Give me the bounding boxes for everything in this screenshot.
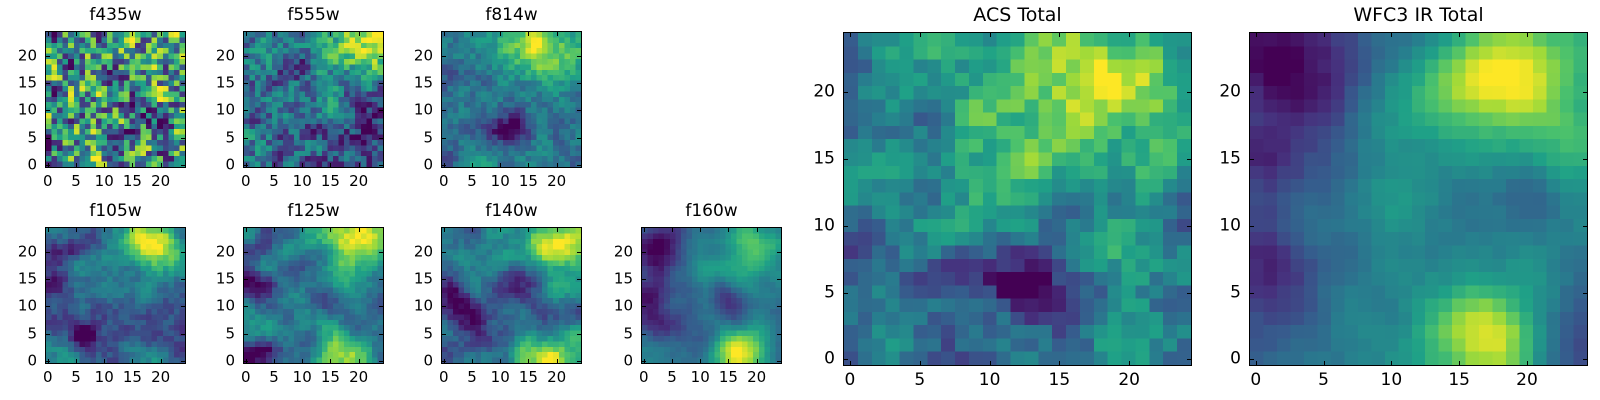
x-tick-mark-top	[472, 32, 473, 36]
y-tick-mark	[244, 165, 248, 166]
panel-f140w: f140w0510152005101520	[441, 227, 582, 364]
y-tick-mark	[1250, 293, 1254, 294]
x-tick-mark	[500, 359, 501, 363]
x-tick-label: 20	[349, 370, 368, 385]
x-tick-label: 0	[439, 370, 449, 385]
y-tick-label: 10	[0, 299, 37, 314]
x-tick-label: 20	[349, 174, 368, 189]
panel-title-f140w: f140w	[441, 203, 582, 220]
y-tick-mark	[642, 361, 646, 362]
x-tick-mark-top	[500, 228, 501, 232]
heatmap-image-wfc3-ir-total	[1250, 33, 1587, 365]
y-tick-label: 15	[0, 272, 37, 287]
x-tick-mark	[920, 361, 921, 365]
panel-f435w: f435w0510152005101520	[45, 31, 186, 168]
y-tick-mark	[1583, 159, 1587, 160]
panel-title-wfc3-ir-total: WFC3 IR Total	[1249, 6, 1588, 25]
y-tick-label: 15	[579, 272, 633, 287]
panel-title-acs-total: ACS Total	[843, 6, 1192, 25]
y-tick-mark	[844, 293, 848, 294]
x-tick-mark-top	[990, 33, 991, 37]
x-tick-label: 10	[491, 370, 510, 385]
y-tick-label: 5	[781, 284, 835, 301]
heatmap-axes-acs-total	[843, 32, 1192, 366]
y-tick-mark	[244, 361, 248, 362]
y-tick-mark	[777, 252, 781, 253]
x-tick-label: 5	[1318, 372, 1329, 389]
x-tick-mark-top	[757, 228, 758, 232]
x-tick-label: 0	[1250, 372, 1261, 389]
x-tick-mark	[528, 359, 529, 363]
y-tick-label: 15	[379, 76, 433, 91]
y-tick-mark	[442, 361, 446, 362]
y-tick-label: 0	[181, 158, 235, 173]
x-tick-label: 5	[269, 174, 279, 189]
y-tick-mark	[244, 56, 248, 57]
x-tick-mark	[274, 359, 275, 363]
y-tick-mark	[46, 83, 50, 84]
x-tick-mark	[1129, 361, 1130, 365]
y-tick-mark	[642, 334, 646, 335]
x-tick-mark-top	[850, 33, 851, 37]
y-tick-label: 10	[379, 299, 433, 314]
x-tick-mark-top	[644, 228, 645, 232]
y-tick-label: 0	[0, 354, 37, 369]
x-tick-mark-top	[246, 228, 247, 232]
x-tick-label: 10	[95, 370, 114, 385]
x-tick-mark	[1527, 361, 1528, 365]
heatmap-axes-f435w	[45, 31, 186, 168]
x-tick-label: 0	[241, 370, 251, 385]
y-tick-mark	[642, 306, 646, 307]
x-tick-mark-top	[557, 228, 558, 232]
heatmap-image-acs-total	[844, 33, 1191, 365]
x-tick-label: 0	[845, 372, 856, 389]
y-tick-mark	[844, 159, 848, 160]
y-tick-label: 5	[579, 326, 633, 341]
x-tick-mark-top	[274, 228, 275, 232]
y-tick-mark	[642, 252, 646, 253]
panel-f105w: f105w0510152005101520	[45, 227, 186, 364]
panel-f125w: f125w0510152005101520	[243, 227, 384, 364]
x-tick-mark-top	[76, 32, 77, 36]
x-tick-mark-top	[528, 228, 529, 232]
y-tick-label: 10	[379, 103, 433, 118]
y-tick-mark	[46, 56, 50, 57]
y-tick-mark	[1250, 92, 1254, 93]
x-tick-mark-top	[528, 32, 529, 36]
x-tick-mark	[1059, 361, 1060, 365]
x-tick-mark	[274, 163, 275, 167]
y-tick-mark	[244, 83, 248, 84]
x-tick-mark-top	[1324, 33, 1325, 37]
y-tick-mark	[1250, 226, 1254, 227]
panel-title-f125w: f125w	[243, 203, 384, 220]
x-tick-label: 15	[1448, 372, 1470, 389]
y-tick-label: 0	[0, 158, 37, 173]
x-tick-label: 20	[151, 370, 170, 385]
y-tick-label: 20	[0, 48, 37, 63]
y-tick-label: 10	[0, 103, 37, 118]
x-tick-mark	[161, 359, 162, 363]
x-tick-mark	[302, 163, 303, 167]
x-tick-mark-top	[672, 228, 673, 232]
x-tick-label: 10	[979, 372, 1001, 389]
panel-wfc3-ir-total: WFC3 IR Total0510152005101520	[1249, 32, 1588, 366]
x-tick-mark-top	[48, 32, 49, 36]
y-tick-label: 5	[0, 326, 37, 341]
y-tick-label: 0	[781, 351, 835, 368]
y-tick-label: 15	[181, 272, 235, 287]
x-tick-mark-top	[920, 33, 921, 37]
y-tick-mark	[1583, 226, 1587, 227]
y-tick-mark	[46, 110, 50, 111]
y-tick-label: 0	[579, 354, 633, 369]
y-tick-mark	[46, 279, 50, 280]
panel-f160w: f160w0510152005101520	[641, 227, 782, 364]
x-tick-mark-top	[274, 32, 275, 36]
x-tick-mark-top	[728, 228, 729, 232]
x-tick-mark	[330, 163, 331, 167]
y-tick-label: 5	[181, 326, 235, 341]
y-tick-mark	[577, 138, 581, 139]
y-tick-label: 5	[379, 326, 433, 341]
figure-canvas: f435w0510152005101520f555w05101520051015…	[0, 0, 1600, 400]
x-tick-mark	[359, 163, 360, 167]
x-tick-mark-top	[330, 32, 331, 36]
y-tick-mark	[1583, 359, 1587, 360]
panel-title-f555w: f555w	[243, 7, 384, 24]
heatmap-image-f555w	[244, 32, 383, 167]
y-tick-label: 15	[181, 76, 235, 91]
y-tick-label: 15	[0, 76, 37, 91]
y-tick-mark	[442, 306, 446, 307]
x-tick-label: 20	[1516, 372, 1538, 389]
y-tick-label: 0	[379, 354, 433, 369]
y-tick-label: 20	[1187, 84, 1241, 101]
y-tick-mark	[442, 334, 446, 335]
y-tick-label: 0	[181, 354, 235, 369]
x-tick-mark-top	[1391, 33, 1392, 37]
y-tick-label: 15	[1187, 150, 1241, 167]
y-tick-label: 5	[379, 130, 433, 145]
x-tick-mark-top	[1459, 33, 1460, 37]
panel-title-f435w: f435w	[45, 7, 186, 24]
y-tick-mark	[244, 306, 248, 307]
y-tick-mark	[844, 226, 848, 227]
y-tick-mark	[46, 138, 50, 139]
x-tick-mark	[672, 359, 673, 363]
y-tick-label: 20	[379, 48, 433, 63]
x-tick-mark-top	[330, 228, 331, 232]
y-tick-label: 5	[181, 130, 235, 145]
y-tick-label: 20	[181, 48, 235, 63]
x-tick-mark	[302, 359, 303, 363]
x-tick-mark	[472, 359, 473, 363]
y-tick-mark	[1250, 359, 1254, 360]
x-tick-label: 10	[1381, 372, 1403, 389]
x-tick-mark-top	[302, 228, 303, 232]
y-tick-label: 5	[0, 130, 37, 145]
x-tick-mark-top	[359, 228, 360, 232]
x-tick-mark	[132, 359, 133, 363]
x-tick-mark-top	[104, 32, 105, 36]
panel-title-f105w: f105w	[45, 203, 186, 220]
x-tick-label: 20	[1118, 372, 1140, 389]
x-tick-label: 15	[1049, 372, 1071, 389]
heatmap-axes-f814w	[441, 31, 582, 168]
x-tick-mark	[557, 163, 558, 167]
x-tick-mark	[472, 163, 473, 167]
x-tick-mark	[850, 361, 851, 365]
heatmap-image-f814w	[442, 32, 581, 167]
y-tick-mark	[577, 165, 581, 166]
x-tick-label: 15	[321, 370, 340, 385]
y-tick-label: 10	[781, 217, 835, 234]
x-tick-mark-top	[302, 32, 303, 36]
y-tick-mark	[844, 92, 848, 93]
y-tick-mark	[577, 56, 581, 57]
y-tick-label: 20	[781, 84, 835, 101]
y-tick-mark	[244, 334, 248, 335]
heatmap-image-f105w	[46, 228, 185, 363]
x-tick-mark-top	[246, 32, 247, 36]
x-tick-mark-top	[132, 228, 133, 232]
y-tick-label: 20	[579, 244, 633, 259]
heatmap-axes-f105w	[45, 227, 186, 364]
x-tick-label: 5	[269, 370, 279, 385]
y-tick-mark	[1583, 92, 1587, 93]
y-tick-mark	[244, 279, 248, 280]
x-tick-label: 10	[293, 370, 312, 385]
x-tick-label: 5	[467, 174, 477, 189]
y-tick-mark	[442, 83, 446, 84]
x-tick-mark	[557, 359, 558, 363]
y-tick-mark	[577, 83, 581, 84]
y-tick-label: 10	[579, 299, 633, 314]
x-tick-mark-top	[161, 228, 162, 232]
x-tick-label: 5	[71, 174, 81, 189]
x-tick-label: 5	[71, 370, 81, 385]
y-tick-mark	[777, 306, 781, 307]
heatmap-image-f125w	[244, 228, 383, 363]
x-tick-mark-top	[1129, 33, 1130, 37]
x-tick-label: 15	[123, 174, 142, 189]
heatmap-axes-f555w	[243, 31, 384, 168]
y-tick-mark	[844, 359, 848, 360]
x-tick-mark	[700, 359, 701, 363]
y-tick-mark	[642, 279, 646, 280]
y-tick-mark	[777, 334, 781, 335]
y-tick-mark	[577, 110, 581, 111]
x-tick-mark-top	[444, 228, 445, 232]
y-tick-mark	[46, 252, 50, 253]
y-tick-label: 10	[181, 103, 235, 118]
x-tick-mark	[1256, 361, 1257, 365]
x-tick-mark-top	[132, 32, 133, 36]
panel-f814w: f814w0510152005101520	[441, 31, 582, 168]
x-tick-mark	[330, 359, 331, 363]
x-tick-mark	[500, 163, 501, 167]
x-tick-label: 20	[747, 370, 766, 385]
x-tick-mark	[76, 359, 77, 363]
heatmap-image-f140w	[442, 228, 581, 363]
x-tick-label: 20	[151, 174, 170, 189]
y-tick-label: 15	[379, 272, 433, 287]
x-tick-label: 15	[519, 174, 538, 189]
panel-title-f160w: f160w	[641, 203, 782, 220]
y-tick-label: 20	[0, 244, 37, 259]
x-tick-mark-top	[700, 228, 701, 232]
y-tick-label: 0	[379, 158, 433, 173]
y-tick-mark	[244, 110, 248, 111]
x-tick-mark	[161, 163, 162, 167]
x-tick-mark-top	[472, 228, 473, 232]
x-tick-mark	[359, 359, 360, 363]
x-tick-label: 0	[43, 370, 53, 385]
y-tick-mark	[244, 138, 248, 139]
x-tick-label: 15	[123, 370, 142, 385]
y-tick-mark	[442, 279, 446, 280]
y-tick-mark	[46, 361, 50, 362]
x-tick-mark	[528, 163, 529, 167]
x-tick-mark-top	[48, 228, 49, 232]
x-tick-mark-top	[500, 32, 501, 36]
x-tick-label: 0	[241, 174, 251, 189]
x-tick-mark-top	[444, 32, 445, 36]
x-tick-label: 5	[467, 370, 477, 385]
heatmap-axes-f125w	[243, 227, 384, 364]
y-tick-label: 10	[1187, 217, 1241, 234]
y-tick-label: 5	[1187, 284, 1241, 301]
x-tick-label: 20	[547, 174, 566, 189]
x-tick-mark-top	[161, 32, 162, 36]
y-tick-mark	[442, 138, 446, 139]
x-tick-label: 20	[547, 370, 566, 385]
heatmap-axes-wfc3-ir-total	[1249, 32, 1588, 366]
panel-acs-total: ACS Total0510152005101520	[843, 32, 1192, 366]
y-tick-mark	[1250, 159, 1254, 160]
y-tick-label: 0	[1187, 351, 1241, 368]
y-tick-mark	[442, 165, 446, 166]
y-tick-mark	[46, 306, 50, 307]
x-tick-label: 0	[43, 174, 53, 189]
x-tick-mark-top	[557, 32, 558, 36]
x-tick-label: 5	[667, 370, 677, 385]
x-tick-mark	[1391, 361, 1392, 365]
heatmap-axes-f140w	[441, 227, 582, 364]
y-tick-mark	[777, 279, 781, 280]
x-tick-mark	[990, 361, 991, 365]
heatmap-axes-f160w	[641, 227, 782, 364]
x-tick-label: 15	[519, 370, 538, 385]
y-tick-mark	[442, 56, 446, 57]
x-tick-label: 10	[691, 370, 710, 385]
x-tick-label: 15	[321, 174, 340, 189]
y-tick-mark	[1583, 293, 1587, 294]
x-tick-label: 10	[95, 174, 114, 189]
heatmap-image-f160w	[642, 228, 781, 363]
y-tick-mark	[46, 165, 50, 166]
x-tick-mark	[1324, 361, 1325, 365]
y-tick-label: 20	[181, 244, 235, 259]
x-tick-mark-top	[1256, 33, 1257, 37]
x-tick-mark-top	[104, 228, 105, 232]
x-tick-mark	[728, 359, 729, 363]
x-tick-mark	[76, 163, 77, 167]
x-tick-mark	[104, 163, 105, 167]
x-tick-mark-top	[1059, 33, 1060, 37]
x-tick-mark-top	[76, 228, 77, 232]
x-tick-label: 0	[439, 174, 449, 189]
y-tick-mark	[442, 252, 446, 253]
x-tick-label: 0	[639, 370, 649, 385]
y-tick-label: 15	[781, 150, 835, 167]
x-tick-mark	[132, 163, 133, 167]
x-tick-mark-top	[1527, 33, 1528, 37]
y-tick-mark	[244, 252, 248, 253]
x-tick-mark-top	[359, 32, 360, 36]
heatmap-image-f435w	[46, 32, 185, 167]
x-tick-mark	[1459, 361, 1460, 365]
y-tick-label: 20	[379, 244, 433, 259]
y-tick-mark	[442, 110, 446, 111]
y-tick-label: 10	[181, 299, 235, 314]
x-tick-label: 15	[719, 370, 738, 385]
x-tick-mark	[104, 359, 105, 363]
panel-title-f814w: f814w	[441, 7, 582, 24]
x-tick-label: 10	[491, 174, 510, 189]
x-tick-label: 5	[914, 372, 925, 389]
y-tick-mark	[46, 334, 50, 335]
panel-f555w: f555w0510152005101520	[243, 31, 384, 168]
x-tick-mark	[757, 359, 758, 363]
x-tick-label: 10	[293, 174, 312, 189]
